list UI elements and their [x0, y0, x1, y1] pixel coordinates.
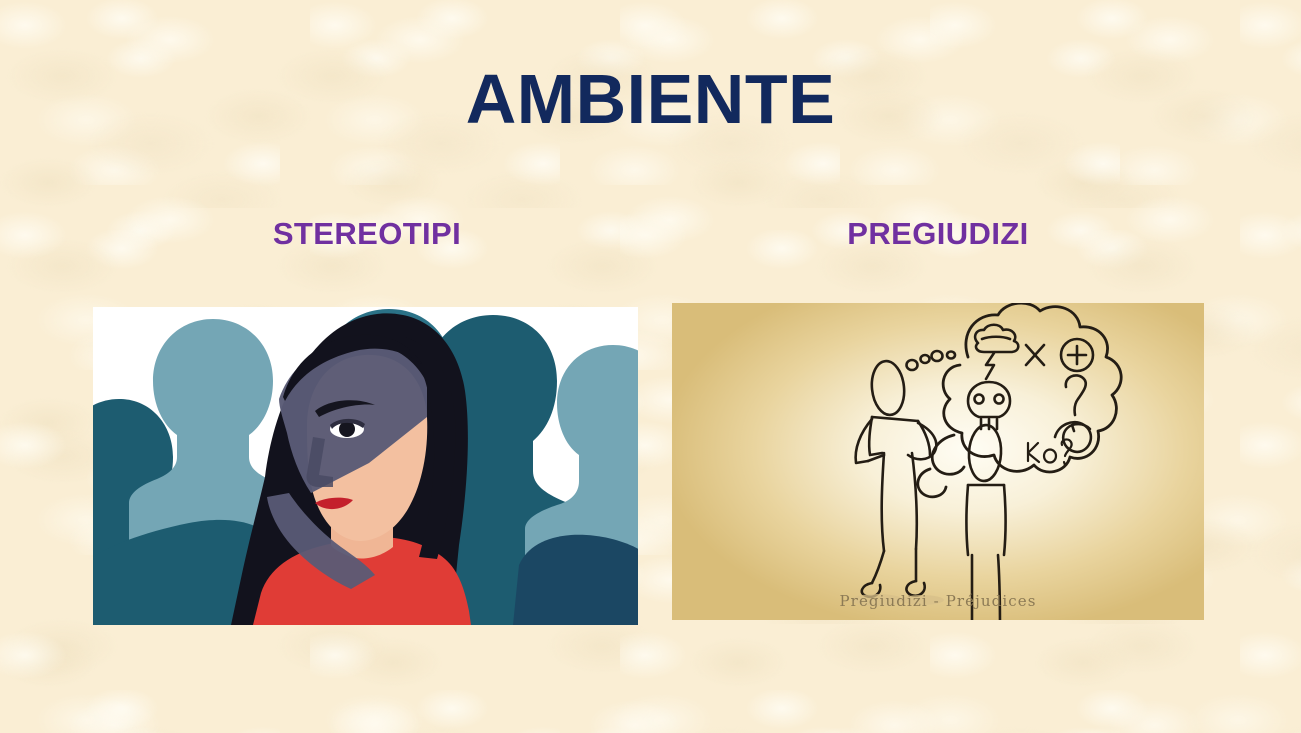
- slide-canvas: AMBIENTE STEREOTIPI PREGIUDIZI: [0, 0, 1301, 733]
- stereotypes-illustration: [93, 307, 638, 625]
- page-title: AMBIENTE: [0, 62, 1301, 138]
- symbol-x: [1026, 345, 1044, 365]
- prejudices-illustration: Pregiudizi - Préjudices: [672, 303, 1204, 620]
- thought-trail-dots: [907, 351, 956, 370]
- prejudices-caption: Pregiudizi - Préjudices: [672, 592, 1204, 610]
- symbol-plus-circle: [1061, 339, 1093, 371]
- thought-cloud: [918, 303, 1121, 497]
- section-label-pregiudizi: PREGIUDIZI: [672, 216, 1204, 252]
- stick-figure-left: [856, 359, 937, 596]
- stereotypes-artwork: [93, 307, 638, 625]
- symbol-skull: [968, 382, 1010, 429]
- prejudices-artwork: [672, 303, 1204, 620]
- symbol-storm-cloud: [975, 325, 1018, 379]
- stick-figure-right: [959, 424, 1011, 620]
- section-label-stereotipi: STEREOTIPI: [112, 216, 622, 252]
